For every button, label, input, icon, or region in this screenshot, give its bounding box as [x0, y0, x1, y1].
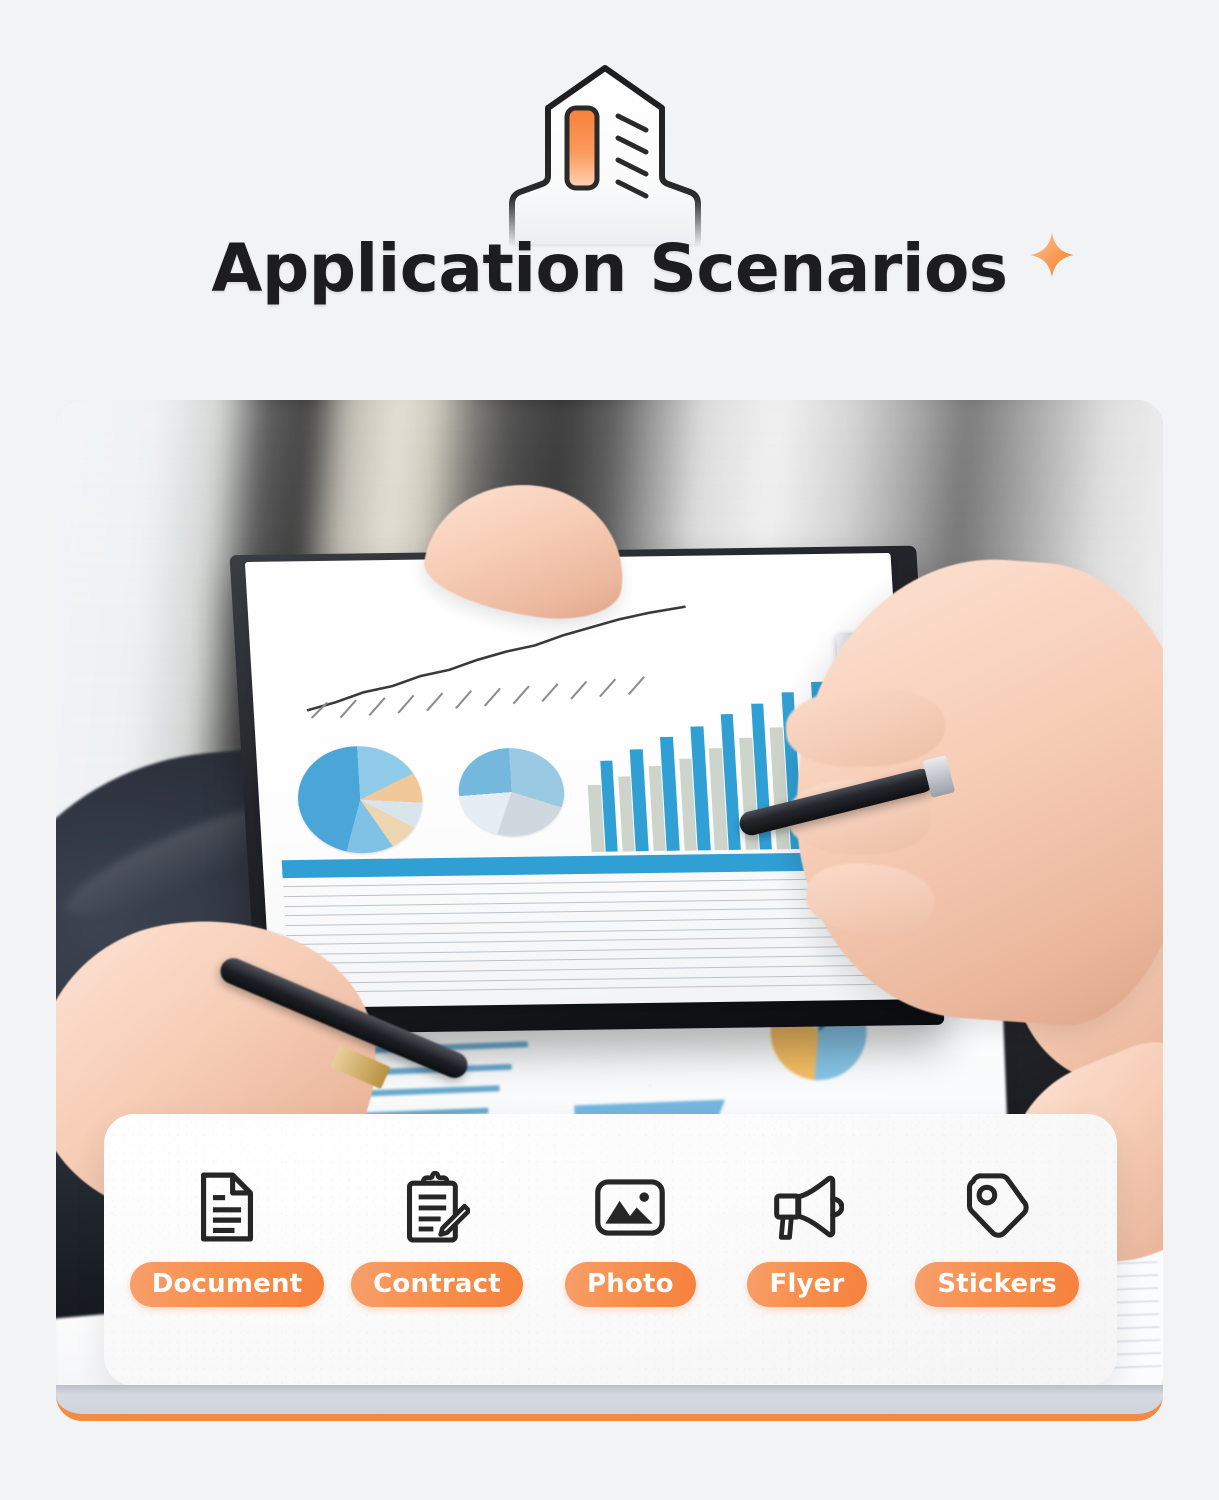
shelf-base [56, 1385, 1163, 1421]
sparkle-star-icon [1029, 232, 1075, 278]
pie-chart-group [294, 736, 611, 856]
header-section: Application Scenarios [0, 0, 1219, 390]
feature-pill-label[interactable]: Flyer [747, 1262, 866, 1307]
document-icon [197, 1166, 257, 1248]
feature-item-contract[interactable]: Contract [352, 1166, 522, 1307]
feature-item-flyer[interactable]: Flyer [739, 1166, 876, 1307]
feature-pill-label[interactable]: Document [130, 1262, 325, 1307]
feature-item-document[interactable]: Document [142, 1166, 312, 1307]
contract-clipboard-pen-icon [404, 1166, 470, 1248]
application-scenarios-card: Document Contract [104, 1114, 1117, 1386]
feature-pill-label[interactable]: Photo [565, 1262, 696, 1307]
megaphone-icon [770, 1166, 844, 1248]
feature-pill-label[interactable]: Stickers [915, 1262, 1079, 1307]
photo-image-icon [594, 1166, 666, 1248]
feature-item-stickers[interactable]: Stickers [915, 1166, 1079, 1307]
price-tag-icon [964, 1166, 1030, 1248]
pie-chart [295, 745, 425, 854]
page-title: Application Scenarios [211, 236, 1007, 302]
feature-item-photo[interactable]: Photo [562, 1166, 699, 1307]
building-tower-icon [494, 62, 716, 247]
feature-list: Document Contract [104, 1114, 1117, 1386]
shelf-shadow [56, 1385, 1163, 1395]
feature-pill-label[interactable]: Contract [351, 1262, 523, 1307]
pie-chart [456, 748, 567, 837]
